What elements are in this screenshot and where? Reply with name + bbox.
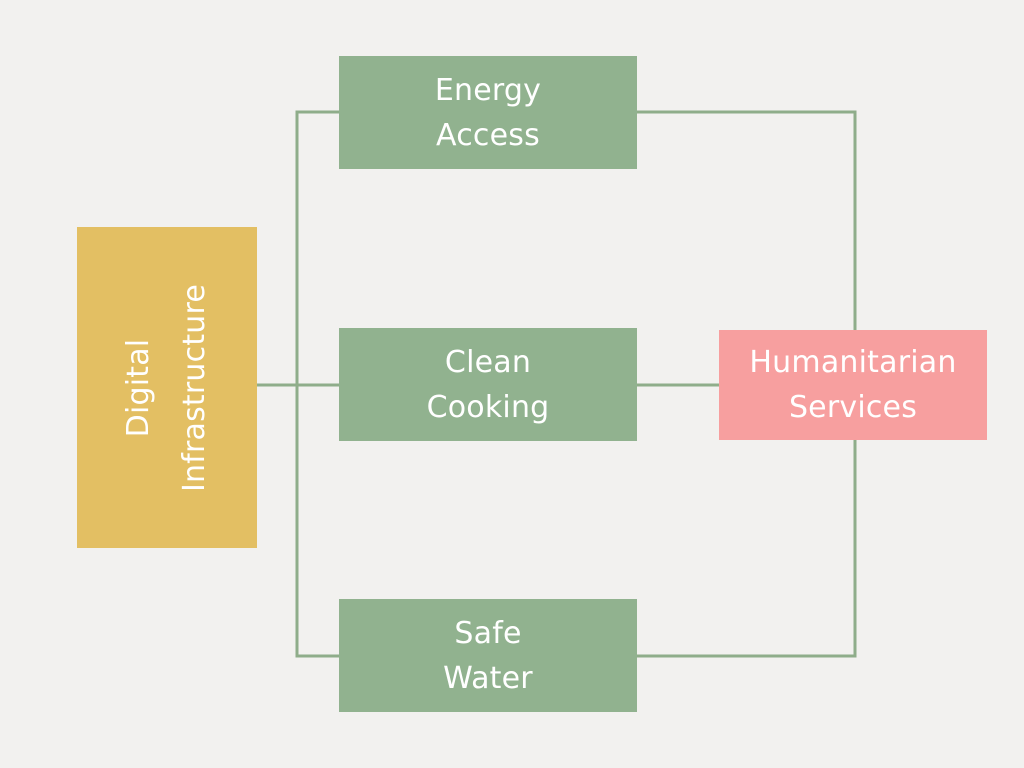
node-safe-water[interactable]: Safe Water [339, 599, 637, 712]
edge-digital-to-energy [257, 112, 339, 385]
node-energy-access-label: Energy Access [435, 68, 541, 158]
node-energy-access[interactable]: Energy Access [339, 56, 637, 169]
diagram-canvas: Digital Infrastructure Energy Access Cle… [0, 0, 1024, 768]
node-humanitarian-services-label: Humanitarian Services [749, 340, 956, 430]
node-humanitarian-services[interactable]: Humanitarian Services [719, 330, 987, 440]
node-clean-cooking[interactable]: Clean Cooking [339, 328, 637, 441]
node-digital-infrastructure-label: Digital Infrastructure [111, 283, 223, 491]
node-clean-cooking-label: Clean Cooking [427, 340, 550, 430]
node-digital-infrastructure[interactable]: Digital Infrastructure [77, 227, 257, 548]
edge-digital-to-safe-water [257, 385, 339, 656]
node-safe-water-label: Safe Water [443, 611, 533, 701]
